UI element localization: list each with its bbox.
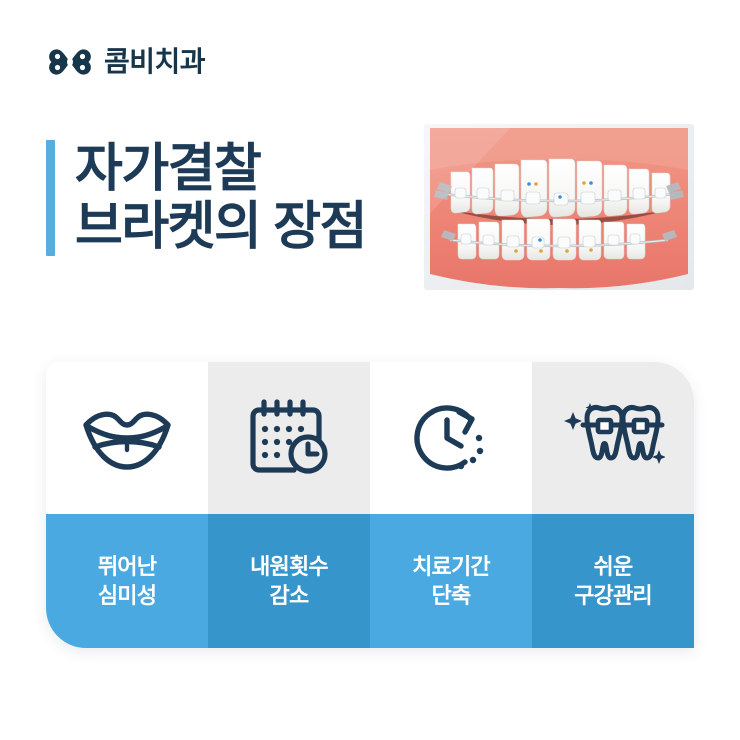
- clover-pinwheel-logo-icon: [46, 38, 94, 86]
- braces-teeth-sparkle-icon: [532, 362, 694, 514]
- benefit-card-1-label: 뛰어난 심미성: [46, 514, 208, 648]
- benefit-card-4-label: 쉬운 구강관리: [532, 514, 694, 648]
- benefit-card-3-label: 치료기간 단축: [370, 514, 532, 648]
- calendar-clock-icon: [208, 362, 370, 514]
- benefit-card-3-label-line1: 치료기간: [412, 552, 490, 581]
- benefit-card-1[interactable]: 뛰어난 심미성: [46, 362, 208, 648]
- clock-arrow-fast-icon: [370, 362, 532, 514]
- benefit-card-4-label-line2: 구강관리: [574, 581, 652, 610]
- infographic-page: 콤비치과 자가결찰 브라켓의 장점: [0, 0, 740, 740]
- benefit-card-2[interactable]: 내원횟수 감소: [208, 362, 370, 648]
- benefit-card-1-label-line1: 뛰어난: [98, 552, 156, 581]
- benefit-card-3[interactable]: 치료기간 단축: [370, 362, 532, 648]
- benefit-card-2-label-line2: 감소: [270, 581, 309, 610]
- braces-teeth-model-photo: [424, 124, 694, 290]
- benefit-card-4-label-line1: 쉬운: [594, 552, 633, 581]
- benefit-card-3-label-line2: 단축: [432, 581, 471, 610]
- benefits-card-group: 뛰어난 심미성: [46, 362, 694, 648]
- benefit-card-2-label-line1: 내원횟수: [250, 552, 328, 581]
- smiling-lips-icon: [46, 362, 208, 514]
- title-line-2: 브라켓의 장점: [75, 198, 366, 256]
- benefit-card-1-label-line2: 심미성: [98, 581, 156, 610]
- brand-logo: 콤비치과: [46, 38, 205, 86]
- benefit-card-2-label: 내원횟수 감소: [208, 514, 370, 648]
- brand-name: 콤비치과: [104, 48, 205, 76]
- benefit-card-4[interactable]: 쉬운 구강관리: [532, 362, 694, 648]
- page-title: 자가결찰 브라켓의 장점: [46, 140, 366, 256]
- title-accent-bar: [46, 140, 55, 256]
- title-line-1: 자가결찰: [75, 140, 366, 198]
